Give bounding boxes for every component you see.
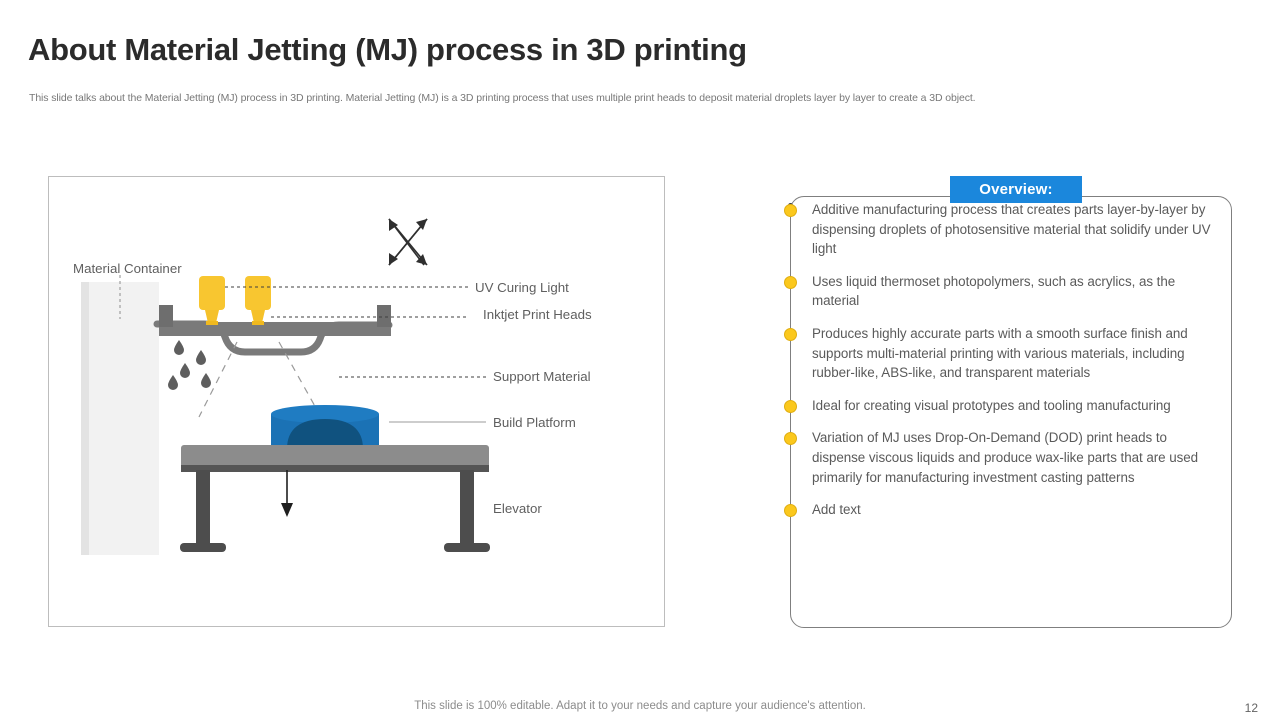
bullet-dot-icon	[784, 504, 797, 517]
list-item-text: Uses liquid thermoset photopolymers, suc…	[812, 272, 1212, 311]
uv-curing-light-module	[199, 276, 225, 325]
elevator-structure	[180, 470, 490, 552]
material-jetting-diagram: Material Container UV Curing Light Inktj…	[49, 177, 664, 626]
label-material-container: Material Container	[73, 261, 182, 276]
build-platform-slab	[181, 445, 489, 472]
list-item[interactable]: Variation of MJ uses Drop-On-Demand (DOD…	[784, 428, 1224, 487]
page-number: 12	[1245, 701, 1258, 715]
printed-object	[271, 405, 379, 449]
bullet-dot-icon	[784, 400, 797, 413]
label-uv-curing-light: UV Curing Light	[475, 280, 569, 295]
label-build-platform: Build Platform	[493, 415, 576, 430]
diagram-card: Material Container UV Curing Light Inktj…	[48, 176, 665, 627]
bullet-dot-icon	[784, 432, 797, 445]
material-droplets	[168, 340, 211, 390]
overview-bullet-list: Additive manufacturing process that crea…	[784, 200, 1224, 533]
label-elevator: Elevator	[493, 501, 542, 516]
label-support-material: Support Material	[493, 369, 591, 384]
label-inkjet-print-heads: Inktjet Print Heads	[483, 307, 592, 322]
list-item[interactable]: Ideal for creating visual prototypes and…	[784, 396, 1224, 416]
list-item-text: Add text	[812, 500, 861, 520]
list-item-text: Additive manufacturing process that crea…	[812, 200, 1212, 259]
motion-arrows-icon	[389, 219, 427, 265]
list-item-text: Variation of MJ uses Drop-On-Demand (DOD…	[812, 428, 1212, 487]
bullet-dot-icon	[784, 328, 797, 341]
list-item-text: Ideal for creating visual prototypes and…	[812, 396, 1171, 416]
list-item[interactable]: Produces highly accurate parts with a sm…	[784, 324, 1224, 383]
list-item[interactable]: Uses liquid thermoset photopolymers, suc…	[784, 272, 1224, 311]
page-title: About Material Jetting (MJ) process in 3…	[28, 32, 747, 68]
bullet-dot-icon	[784, 276, 797, 289]
list-item[interactable]: Additive manufacturing process that crea…	[784, 200, 1224, 259]
material-container-shape	[81, 282, 159, 555]
page-subtitle: This slide talks about the Material Jett…	[29, 92, 976, 104]
inkjet-print-head-module	[245, 276, 271, 325]
footer-note: This slide is 100% editable. Adapt it to…	[0, 700, 1280, 712]
list-item[interactable]: Add text	[784, 500, 1224, 520]
elevator-direction-arrow	[281, 470, 293, 517]
bullet-dot-icon	[784, 204, 797, 217]
list-item-text: Produces highly accurate parts with a sm…	[812, 324, 1212, 383]
overview-badge: Overview:	[950, 176, 1082, 203]
